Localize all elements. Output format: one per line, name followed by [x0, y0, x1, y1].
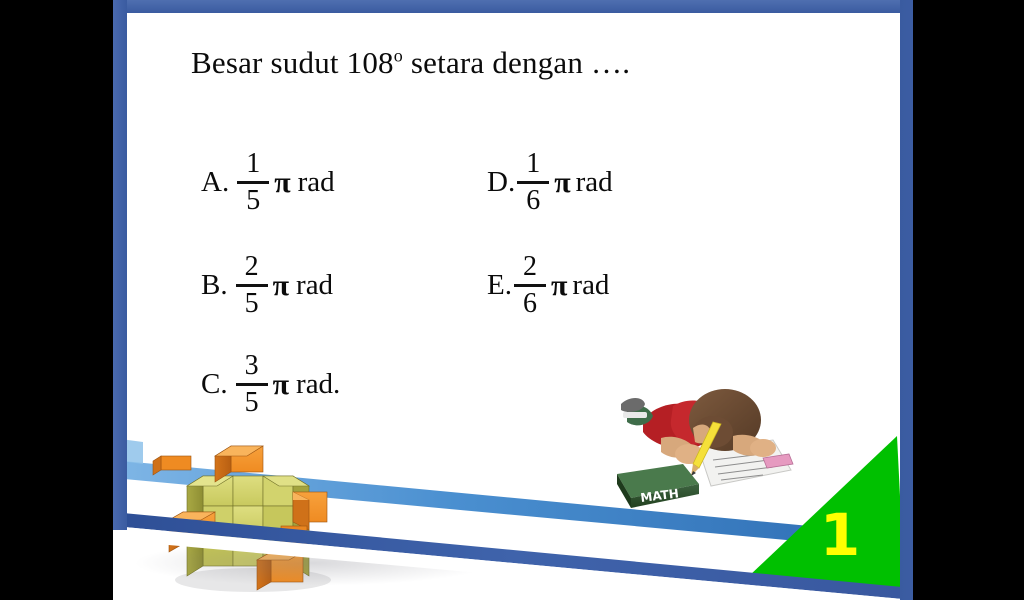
option-d-pi: π	[551, 166, 570, 200]
option-e-label: E.	[487, 271, 512, 300]
option-d-denominator: 6	[526, 186, 540, 215]
fraction-bar	[237, 181, 269, 184]
answer-option-b[interactable]: B. 2 5 π rad	[201, 253, 333, 318]
option-b-pi: π	[270, 269, 289, 303]
answer-option-a[interactable]: A. 1 5 π rad	[201, 150, 335, 215]
page-number-badge: 1	[745, 428, 905, 600]
badge-number: 1	[817, 506, 863, 564]
option-e-pi: π	[548, 269, 567, 303]
question-prefix: Besar sudut 108	[191, 45, 394, 80]
option-c-pi: π	[270, 368, 289, 402]
option-c-fraction: 3 5	[236, 352, 268, 417]
answer-option-e[interactable]: E. 2 6 π rad	[487, 253, 609, 318]
option-d-fraction: 1 6	[517, 150, 549, 215]
option-a-unit: rad	[291, 166, 335, 199]
option-d-label: D.	[487, 168, 515, 197]
slide-left-border	[113, 0, 127, 530]
option-b-unit: rad	[289, 269, 333, 302]
option-b-denominator: 5	[245, 289, 259, 318]
option-c-label: C.	[201, 370, 228, 399]
slide-stage: Besar sudut 108o setara dengan …. A. 1 5…	[0, 0, 1024, 600]
floor-shadow	[133, 540, 493, 586]
question-suffix: setara dengan ….	[403, 45, 630, 80]
option-a-denominator: 5	[246, 186, 260, 215]
option-c-numerator: 3	[245, 352, 259, 381]
answer-option-d[interactable]: D. 1 6 π rad	[487, 150, 613, 215]
degree-symbol: o	[394, 46, 403, 66]
option-a-pi: π	[271, 166, 290, 200]
option-c-denominator: 5	[245, 388, 259, 417]
option-a-fraction: 1 5	[237, 150, 269, 215]
fraction-bar	[236, 284, 268, 287]
presentation-slide: Besar sudut 108o setara dengan …. A. 1 5…	[113, 0, 913, 600]
option-d-numerator: 1	[526, 150, 540, 179]
option-c-unit: rad.	[289, 368, 340, 401]
option-b-numerator: 2	[245, 253, 259, 282]
option-b-label: B.	[201, 271, 228, 300]
fraction-bar	[517, 181, 549, 184]
question-text: Besar sudut 108o setara dengan ….	[191, 45, 630, 81]
option-e-unit: rad	[567, 269, 609, 302]
option-e-numerator: 2	[523, 253, 537, 282]
option-b-fraction: 2 5	[236, 253, 268, 318]
option-d-unit: rad	[571, 166, 613, 199]
option-a-numerator: 1	[246, 150, 260, 179]
fraction-bar	[236, 383, 268, 386]
slide-top-border	[113, 0, 913, 13]
option-e-denominator: 6	[523, 289, 537, 318]
fraction-bar	[514, 284, 546, 287]
option-e-fraction: 2 6	[514, 253, 546, 318]
slide-right-border	[900, 0, 913, 600]
option-a-label: A.	[201, 168, 229, 197]
answer-option-c[interactable]: C. 3 5 π rad.	[201, 352, 340, 417]
